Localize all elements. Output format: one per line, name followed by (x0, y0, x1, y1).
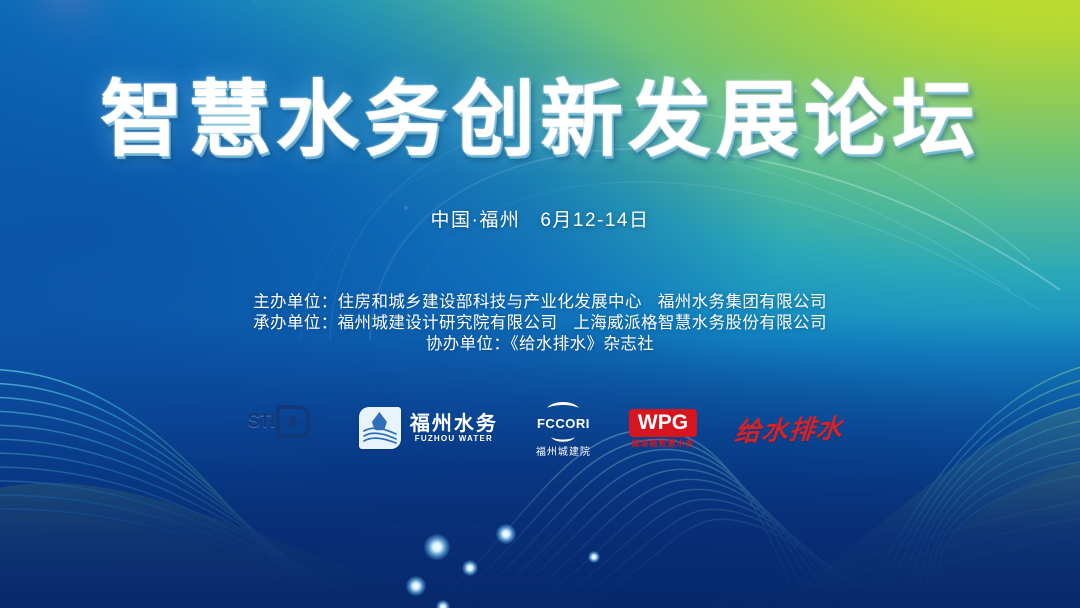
organizer-line: 协办单位：《给水排水》杂志社 (0, 334, 1080, 355)
poster-content: 智慧水务创新发展论坛 中国·福州6月12-14日 主办单位：住房和城乡建设部科技… (0, 0, 1080, 608)
fuzhou-water-en: FUZHOU WATER (415, 435, 493, 443)
logo-fccori: FCCORI 福州城建院 (536, 398, 591, 458)
fccori-cn: 福州城建院 (536, 448, 591, 458)
fuzhou-water-cn: 福州水务 (410, 414, 498, 434)
magazine-name: 给水排水 (733, 408, 845, 449)
water-droplet-icon (359, 407, 401, 449)
organizer-name: 福州城建设计研究院有限公司 (338, 314, 558, 332)
stid-badge-icon (276, 405, 310, 438)
fccori-mark-icon (545, 399, 581, 415)
wave-icon (363, 426, 397, 444)
organizer-role: 承办单位： (253, 314, 338, 332)
organizer-role: 主办单位： (253, 293, 338, 311)
organizer-line: 主办单位：住房和城乡建设部科技与产业化发展中心福州水务集团有限公司 (0, 292, 1080, 313)
organizer-name: 福州水务集团有限公司 (658, 293, 827, 311)
organizer-name: 上海威派格智慧水务股份有限公司 (573, 314, 827, 332)
logo-stid: STI 住房和城乡建设部科技与产业化发展中心 国家住宅与居住环境工程技术研究中心 (237, 398, 321, 458)
logo-wpg: WPG 威派格智慧水务 (629, 398, 697, 458)
subtitle-location: 中国·福州 (431, 210, 521, 231)
logo-water-supply-drainage-magazine: 给水排水 (735, 398, 843, 458)
wpg-badge: WPG (629, 409, 697, 437)
wpg-en: WPG (638, 412, 688, 433)
organizer-role: 协办单位： (426, 335, 511, 353)
fuzhou-water-text: 福州水务 FUZHOU WATER (410, 414, 498, 443)
stid-text: STI (248, 411, 275, 433)
wpg-cn: 威派格智慧水务 (631, 440, 694, 448)
conference-poster: 智慧水务创新发展论坛 中国·福州6月12-14日 主办单位：住房和城乡建设部科技… (0, 0, 1080, 608)
organizer-block: 主办单位：住房和城乡建设部科技与产业化发展中心福州水务集团有限公司 承办单位：福… (0, 292, 1080, 355)
subtitle-dates: 6月12-14日 (540, 210, 649, 231)
sponsor-logo-row: STI 住房和城乡建设部科技与产业化发展中心 国家住宅与居住环境工程技术研究中心 (0, 398, 1080, 458)
organizer-name: 住房和城乡建设部科技与产业化发展中心 (338, 293, 642, 311)
organizer-name: 《给水排水》杂志社 (510, 335, 654, 353)
fccori-en: FCCORI (537, 417, 590, 430)
fccori-mark-icon-mirror (545, 432, 581, 444)
stid-mark-icon: STI (248, 405, 311, 438)
logo-fuzhou-water: 福州水务 FUZHOU WATER (359, 398, 498, 458)
stid-subtext: 住房和城乡建设部科技与产业化发展中心 国家住宅与居住环境工程技术研究中心 (237, 441, 321, 450)
page-title: 智慧水务创新发展论坛 (0, 78, 1080, 161)
organizer-line: 承办单位：福州城建设计研究院有限公司上海威派格智慧水务股份有限公司 (0, 313, 1080, 334)
subtitle: 中国·福州6月12-14日 (0, 205, 1080, 232)
